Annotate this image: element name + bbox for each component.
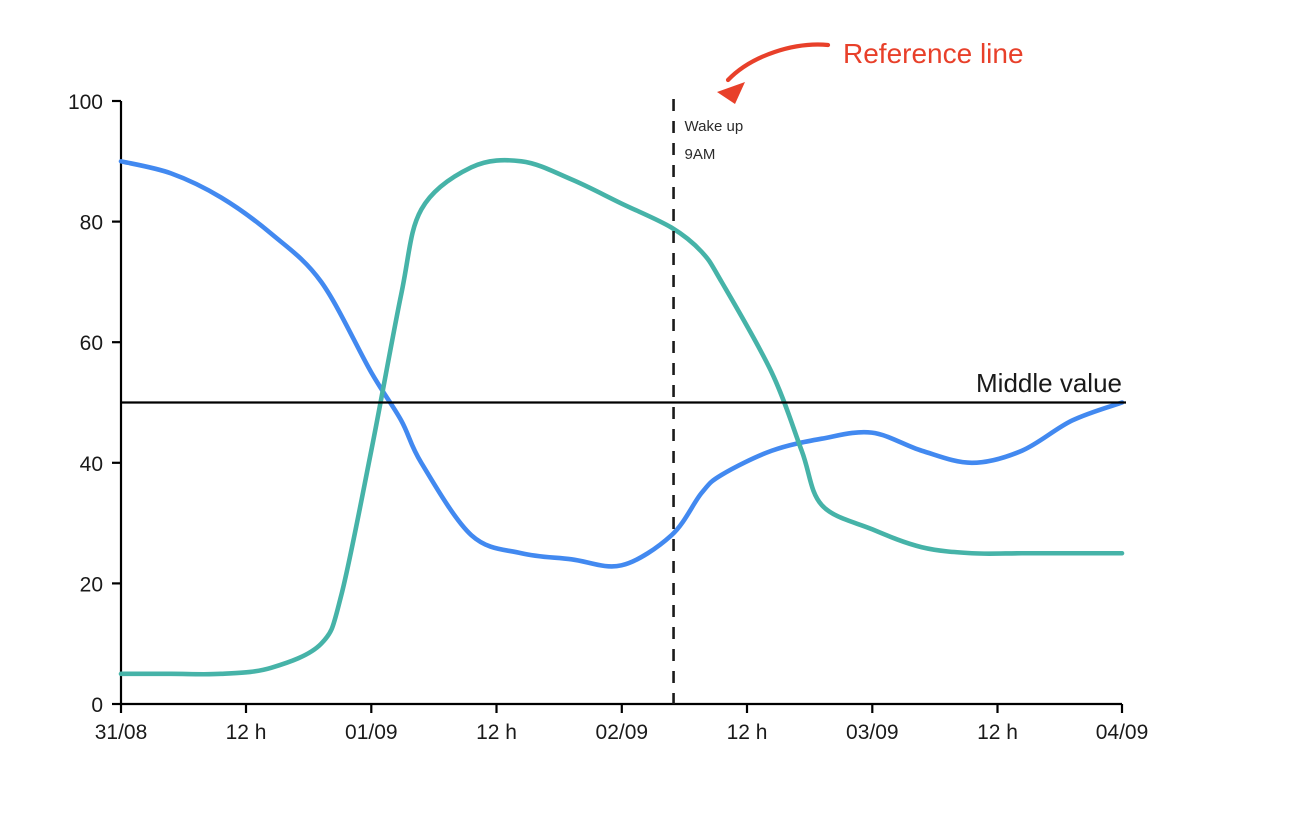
x-tick-8: 04/09 [1096,704,1149,744]
x-tick-label: 12 h [977,721,1018,744]
x-tick-label: 03/09 [846,721,899,744]
x-tick-3: 12 h [476,704,517,744]
x-tick-label: 12 h [727,721,768,744]
y-tick-80: 80 [80,212,121,235]
line-chart: 100 80 60 40 20 0 [0,0,1290,822]
middle-value-label: Middle value [976,368,1122,398]
y-tick-0: 0 [91,694,121,717]
y-tick-40: 40 [80,453,121,476]
x-tick-label: 01/09 [345,721,398,744]
x-tick-6: 03/09 [846,704,899,744]
x-tick-7: 12 h [977,704,1018,744]
x-axis: 31/08 12 h 01/09 12 h 02/09 12 h [95,704,1149,744]
y-tick-label: 40 [80,453,103,476]
wake-up-label-line2: 9AM [685,146,716,163]
data-line-blue [121,161,1122,566]
x-tick-label: 12 h [476,721,517,744]
x-tick-2: 01/09 [345,704,398,744]
curved-arrow-icon [728,45,828,80]
y-tick-label: 0 [91,694,103,717]
y-tick-20: 20 [80,573,121,596]
data-line-teal [121,160,1122,674]
y-tick-label: 100 [68,91,103,114]
x-tick-label: 04/09 [1096,721,1149,744]
chart-container: 100 80 60 40 20 0 [0,0,1290,822]
wake-up-label-line1: Wake up [685,118,744,135]
x-tick-label: 31/08 [95,721,148,744]
x-tick-label: 12 h [226,721,267,744]
y-tick-label: 80 [80,212,103,235]
y-tick-100: 100 [68,91,121,114]
x-tick-label: 02/09 [596,721,649,744]
reference-line-callout-text: Reference line [843,38,1024,69]
x-tick-4: 02/09 [596,704,649,744]
x-tick-1: 12 h [226,704,267,744]
x-tick-5: 12 h [727,704,768,744]
y-tick-60: 60 [80,332,121,355]
middle-value-reference: Middle value [121,368,1126,403]
reference-line-annotation: Reference line [717,38,1024,104]
y-axis: 100 80 60 40 20 0 [68,91,121,717]
y-tick-label: 60 [80,332,103,355]
arrow-head-icon [717,82,745,104]
y-tick-label: 20 [80,573,103,596]
